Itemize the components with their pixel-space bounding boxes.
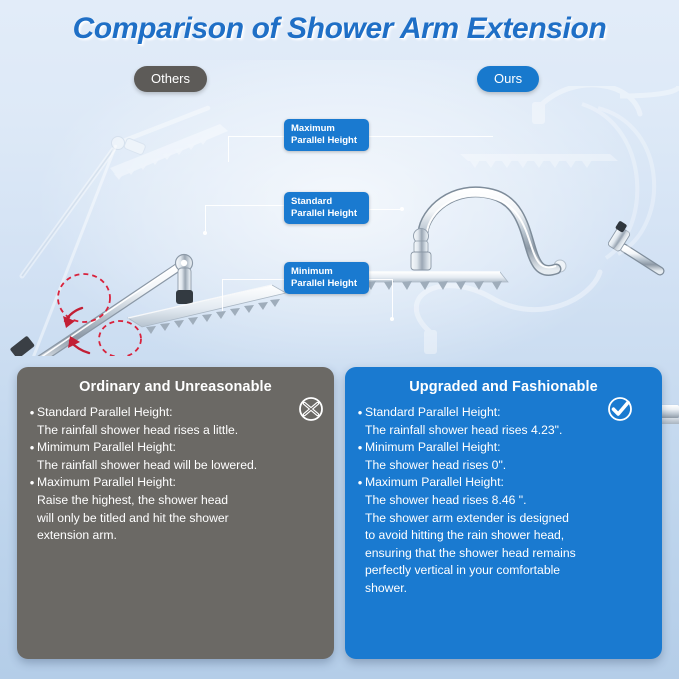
infographic-canvas: Comparison of Shower Arm Extension	[0, 0, 679, 679]
list-item-line: The rainfall shower head rises 4.23".	[365, 422, 653, 440]
list-item-line: will only be titled and hit the shower	[37, 510, 325, 528]
panel-ordinary-list: •Standard Parallel Height:The rainfall s…	[27, 404, 325, 545]
connector-min-right-dot	[390, 317, 394, 321]
list-item-heading: Maximum Parallel Height:	[37, 474, 325, 492]
list-item-content: Standard Parallel Height:The rainfall sh…	[37, 404, 325, 439]
list-item: •Minimum Parallel Height:The shower head…	[355, 439, 653, 474]
collision-circle-upper	[58, 274, 110, 322]
list-item-line: extension arm.	[37, 527, 325, 545]
list-item-line: ensuring that the shower head remains	[365, 545, 653, 563]
list-item-line: perfectly vertical in your comfortable	[365, 562, 653, 580]
panel-ordinary: Ordinary and Unreasonable •Standard Para…	[17, 367, 334, 659]
connector-std-left-drop	[205, 205, 206, 233]
panel-ordinary-title: Ordinary and Unreasonable	[17, 379, 334, 395]
list-item-heading: Standard Parallel Height:	[37, 404, 325, 422]
list-item: •Mimimum Parallel Height:The rainfall sh…	[27, 439, 325, 474]
badge-ours: Ours	[477, 66, 539, 92]
list-item-line: The rainfall shower head rises a little.	[37, 422, 325, 440]
callout-maximum-line2: Parallel Height	[291, 135, 363, 147]
callout-standard-parallel-height: Standard Parallel Height	[284, 192, 369, 224]
connector-min-right-drop	[392, 279, 393, 319]
bullet-icon: •	[27, 404, 37, 422]
bullet-icon: •	[355, 474, 365, 492]
others-main-arm	[10, 145, 286, 356]
list-item-line: shower.	[365, 580, 653, 598]
callout-minimum-line2: Parallel Height	[291, 278, 363, 290]
bullet-icon: •	[355, 404, 365, 422]
cross-icon	[298, 396, 324, 422]
list-item: •Standard Parallel Height:The rainfall s…	[27, 404, 325, 439]
list-item-line: Raise the highest, the shower head	[37, 492, 325, 510]
panel-upgraded-title: Upgraded and Fashionable	[345, 379, 662, 395]
callout-standard-line2: Parallel Height	[291, 208, 363, 220]
bullet-icon: •	[355, 439, 365, 457]
callout-minimum-line1: Minimum	[291, 266, 363, 278]
badge-others: Others	[134, 66, 207, 92]
callout-maximum-parallel-height: Maximum Parallel Height	[284, 119, 369, 151]
list-item-line: The shower head rises 0".	[365, 457, 653, 475]
callout-minimum-parallel-height: Minimum Parallel Height	[284, 262, 369, 294]
list-item: •Maximum Parallel Height:The shower head…	[355, 474, 653, 597]
list-item-heading: Maximum Parallel Height:	[365, 474, 653, 492]
bullet-icon: •	[27, 439, 37, 457]
bullet-icon: •	[27, 474, 37, 492]
connector-min-left-drop	[222, 279, 223, 311]
connector-min-left	[222, 279, 284, 280]
list-item-content: Maximum Parallel Height:Raise the highes…	[37, 474, 325, 544]
check-icon	[607, 396, 633, 422]
connector-max-right	[357, 136, 493, 137]
ours-ghost-maximum	[460, 86, 679, 168]
others-ghost-maximum	[22, 108, 228, 276]
list-item-heading: Mimimum Parallel Height:	[37, 439, 325, 457]
connector-max-left-drop	[228, 136, 229, 162]
others-illustration	[10, 108, 298, 356]
list-item-line: The shower head rises 8.46 ".	[365, 492, 653, 510]
list-item-content: Minimum Parallel Height:The shower head …	[365, 439, 653, 474]
callout-standard-line1: Standard	[291, 196, 363, 208]
connector-std-left	[205, 205, 284, 206]
callout-maximum-line1: Maximum	[291, 123, 363, 135]
list-item-line: The rainfall shower head will be lowered…	[37, 457, 325, 475]
list-item-line: The shower arm extender is designed	[365, 510, 653, 528]
connector-max-left	[228, 136, 284, 137]
list-item-line: to avoid hitting the rain shower head,	[365, 527, 653, 545]
list-item-content: Maximum Parallel Height:The shower head …	[365, 474, 653, 597]
list-item-content: Mimimum Parallel Height:The rainfall sho…	[37, 439, 325, 474]
page-title: Comparison of Shower Arm Extension	[0, 12, 679, 46]
list-item-heading: Minimum Parallel Height:	[365, 439, 653, 457]
panel-upgraded-list: •Standard Parallel Height:The rainfall s…	[355, 404, 653, 598]
connector-std-right-dot	[400, 207, 404, 211]
connector-std-left-dot	[203, 231, 207, 235]
list-item: •Maximum Parallel Height:Raise the highe…	[27, 474, 325, 544]
collision-circle-lower	[99, 321, 141, 356]
